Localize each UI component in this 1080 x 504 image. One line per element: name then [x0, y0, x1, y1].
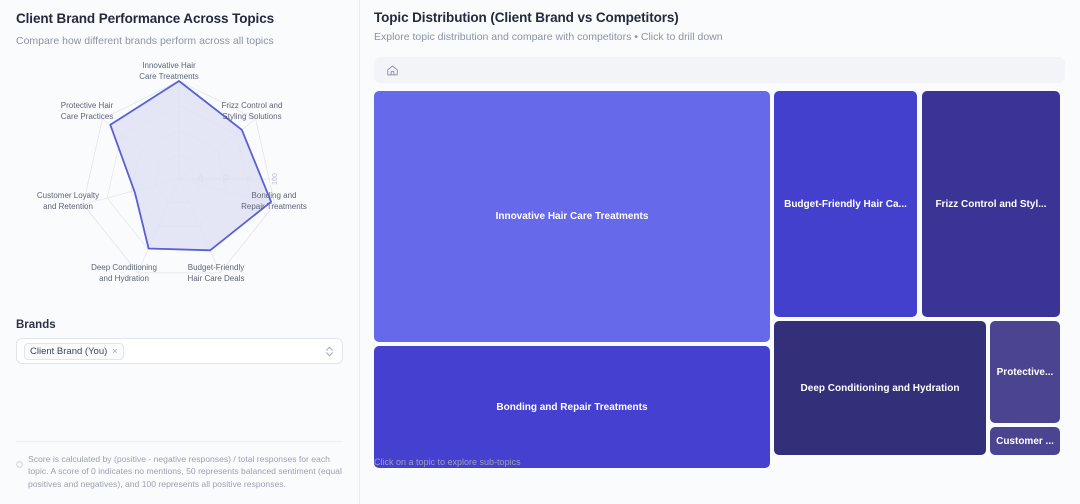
brands-select[interactable]: Client Brand (You) ×	[16, 338, 343, 364]
treemap-tile-label: Innovative Hair Care Treatments	[496, 210, 649, 223]
treemap-tile[interactable]: Innovative Hair Care Treatments	[374, 91, 770, 342]
svg-text:Bonding and: Bonding and	[252, 191, 297, 200]
info-circle-icon	[16, 455, 23, 491]
treemap-tile[interactable]: Frizz Control and Styl...	[922, 91, 1060, 317]
svg-text:Innovative Hair: Innovative Hair	[142, 61, 196, 70]
treemap-tile[interactable]: Bonding and Repair Treatments	[374, 346, 770, 468]
svg-text:Care Treatments: Care Treatments	[139, 72, 199, 81]
treemap-subtitle: Explore topic distribution and compare w…	[374, 31, 1070, 43]
treemap-tile[interactable]: Budget-Friendly Hair Ca...	[774, 91, 917, 317]
score-footnote: Score is calculated by (positive - negat…	[0, 442, 359, 504]
page-title: Client Brand Performance Across Topics	[16, 10, 343, 28]
treemap-title: Topic Distribution (Client Brand vs Comp…	[374, 10, 1070, 25]
treemap-tile-label: Customer ...	[996, 435, 1054, 448]
treemap-tile[interactable]: Deep Conditioning and Hydration	[774, 321, 986, 455]
svg-text:Repair Treatments: Repair Treatments	[241, 202, 307, 211]
treemap-tile-label: Protective...	[997, 366, 1054, 379]
svg-text:Care Practices: Care Practices	[61, 112, 113, 121]
svg-text:100: 100	[272, 173, 279, 185]
close-icon[interactable]: ×	[112, 347, 117, 356]
svg-text:Styling Solutions: Styling Solutions	[222, 112, 281, 121]
svg-text:and Hydration: and Hydration	[99, 274, 149, 283]
footnote-text: Score is calculated by (positive - negat…	[28, 453, 343, 491]
treemap-tile-label: Deep Conditioning and Hydration	[801, 382, 960, 395]
svg-text:and Retention: and Retention	[43, 202, 93, 211]
brand-chip-label: Client Brand (You)	[30, 346, 107, 357]
topic-distribution-panel: Topic Distribution (Client Brand vs Comp…	[360, 0, 1080, 504]
treemap-tile-label: Budget-Friendly Hair Ca...	[784, 198, 907, 211]
svg-text:Customer Loyalty: Customer Loyalty	[37, 191, 99, 200]
treemap-tile[interactable]: Customer ...	[990, 427, 1060, 455]
treemap-tile-label: Frizz Control and Styl...	[935, 198, 1046, 211]
svg-text:Hair Care Deals: Hair Care Deals	[188, 274, 245, 283]
treemap-chart[interactable]: Customer ...Protective...Deep Conditioni…	[374, 91, 1065, 473]
breadcrumb	[374, 57, 1065, 83]
svg-text:Deep Conditioning: Deep Conditioning	[91, 263, 157, 272]
page-subtitle: Compare how different brands perform acr…	[16, 34, 343, 48]
svg-text:Frizz Control and: Frizz Control and	[222, 101, 283, 110]
brands-filter: Brands Client Brand (You) ×	[0, 319, 359, 364]
app-root: Client Brand Performance Across Topics C…	[0, 0, 1080, 504]
brand-performance-panel: Client Brand Performance Across Topics C…	[0, 0, 360, 504]
brands-label: Brands	[16, 319, 343, 331]
left-panel-header: Client Brand Performance Across Topics C…	[0, 0, 359, 48]
treemap-hint: Click on a topic to explore sub-topics	[374, 457, 521, 467]
treemap-tile-label: Bonding and Repair Treatments	[496, 401, 647, 414]
svg-text:Budget-Friendly: Budget-Friendly	[188, 263, 244, 272]
chevron-up-down-icon[interactable]	[325, 345, 334, 358]
right-panel-header: Topic Distribution (Client Brand vs Comp…	[374, 10, 1070, 43]
svg-text:Protective Hair: Protective Hair	[61, 101, 114, 110]
brand-chip[interactable]: Client Brand (You) ×	[24, 343, 124, 360]
home-icon[interactable]	[384, 62, 400, 78]
treemap-tile[interactable]: Protective...	[990, 321, 1060, 423]
radar-chart-svg: 25 50 75 100 Innovative Hair Care Treatm…	[0, 58, 360, 313]
radar-chart[interactable]: 25 50 75 100 Innovative Hair Care Treatm…	[0, 58, 360, 313]
